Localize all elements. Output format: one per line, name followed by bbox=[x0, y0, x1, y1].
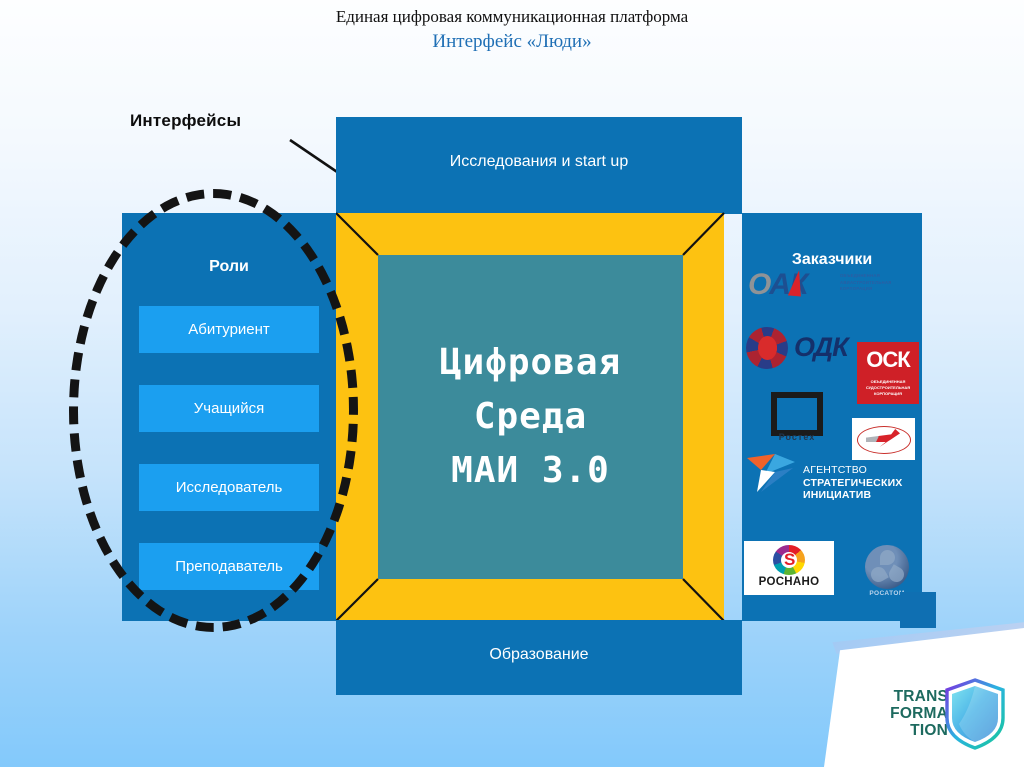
asi-line-2: СТРАТЕГИЧЕСКИХ bbox=[803, 477, 903, 489]
rosatom-blade-1-icon bbox=[880, 550, 895, 565]
top-band-research: Исследования и start up bbox=[336, 117, 742, 214]
oak-logo-icon: ОАК ОБЪЕДИНЕННАЯ АВИАСТРОИТЕЛЬНАЯ КОРПОР… bbox=[748, 268, 888, 308]
rosatom-blade-2-icon bbox=[886, 564, 906, 584]
transformation-line-2: FORMA bbox=[890, 705, 948, 722]
page-title: Единая цифровая коммуникационная платфор… bbox=[0, 6, 1024, 28]
rosatom-logo-icon: РОСАТОМ bbox=[858, 545, 916, 599]
core-line-1: Цифровая bbox=[440, 336, 621, 390]
transformation-wordmark: TRANS FORMA TION bbox=[864, 688, 948, 739]
roles-highlight-ellipse bbox=[69, 189, 358, 632]
rostec-logo-icon: Ростех bbox=[769, 392, 825, 444]
top-band-label: Исследования и start up bbox=[336, 153, 742, 171]
rostec-wordmark: Ростех bbox=[769, 432, 825, 442]
core-line-3: МАИ 3.0 bbox=[451, 444, 610, 498]
oak-red-accent-icon bbox=[788, 269, 803, 296]
customers-title: Заказчики bbox=[742, 251, 922, 269]
osk-logo-icon: ОСК ОБЪЕДИНЕННАЯ СУДОСТРОИТЕЛЬНАЯ КОРПОР… bbox=[857, 342, 919, 404]
odk-core-icon bbox=[758, 336, 777, 360]
slide-title-block: Единая цифровая коммуникационная платфор… bbox=[0, 6, 1024, 55]
core-title: Цифровая Среда МАИ 3.0 bbox=[378, 255, 683, 579]
rosnano-logo-icon: S РОСНАНО bbox=[744, 541, 834, 595]
asi-line-1: АГЕНТСТВО bbox=[803, 464, 867, 476]
page-subtitle: Интерфейс «Люди» bbox=[0, 29, 1024, 55]
odk-wordmark: ОДК bbox=[794, 334, 848, 361]
oak-letter-o: О bbox=[748, 268, 769, 301]
rosatom-mark-icon bbox=[865, 545, 909, 589]
bottom-band-label: Образование bbox=[336, 646, 742, 664]
rosnano-mark-icon: S bbox=[773, 545, 805, 575]
rosnano-wordmark: РОСНАНО bbox=[744, 576, 834, 588]
asi-logo-icon: АГЕНТСТВО СТРАТЕГИЧЕСКИХ ИНИЦИАТИВ bbox=[745, 452, 920, 514]
transformation-line-1: TRANS bbox=[894, 688, 948, 705]
transformation-shield-icon bbox=[944, 678, 1006, 750]
asi-mark-icon bbox=[745, 452, 801, 494]
osk-subtitle: ОБЪЕДИНЕННАЯ СУДОСТРОИТЕЛЬНАЯ КОРПОРАЦИЯ bbox=[857, 379, 919, 397]
osk-wordmark: ОСК bbox=[857, 349, 919, 371]
asi-line-3: ИНИЦИАТИВ bbox=[803, 489, 871, 501]
interfaces-callout-label: Интерфейсы bbox=[130, 111, 241, 131]
oak-subtitle: ОБЪЕДИНЕННАЯ АВИАСТРОИТЕЛЬНАЯ КОРПОРАЦИЯ bbox=[840, 273, 892, 293]
rosatom-blade-3-icon bbox=[868, 564, 888, 584]
rosnano-mark-letter: S bbox=[784, 551, 795, 568]
asi-wordmark: АГЕНТСТВО СТРАТЕГИЧЕСКИХ ИНИЦИАТИВ bbox=[803, 464, 903, 502]
core-line-2: Среда bbox=[474, 390, 587, 444]
transformation-line-3: TION bbox=[910, 722, 948, 739]
corner-blue-tab bbox=[900, 592, 936, 628]
bottom-band-education: Образование bbox=[336, 620, 742, 695]
